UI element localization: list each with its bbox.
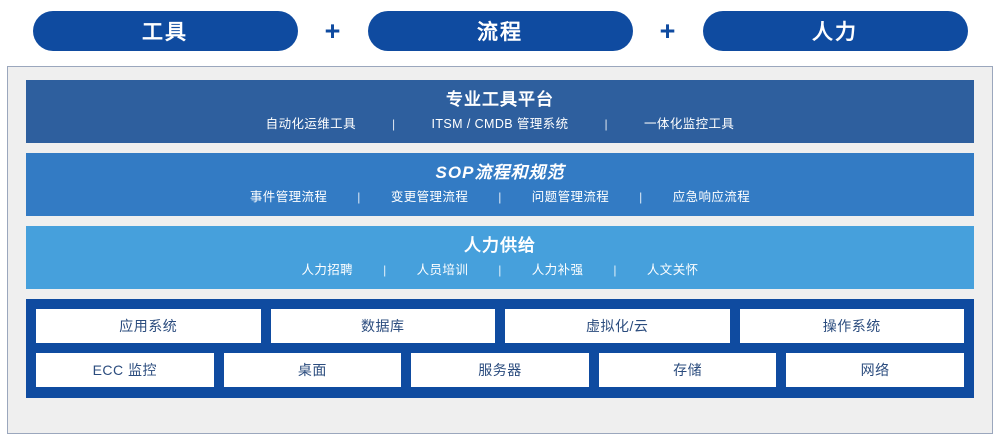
layer-band-people-items: 人力招聘 | 人员培训 | 人力补强 | 人文关怀 <box>26 259 974 281</box>
infra-box-server[interactable]: 服务器 <box>411 353 589 387</box>
capability-pill-tools-label: 工具 <box>142 16 188 46</box>
layer-item-people-1[interactable]: 人员培训 <box>417 259 469 281</box>
layer-item-process-2[interactable]: 问题管理流程 <box>532 186 609 208</box>
infrastructure-row-1: 应用系统 数据库 虚拟化/云 操作系统 <box>36 309 964 343</box>
capability-pill-process-label: 流程 <box>477 16 523 46</box>
layer-band-process-items: 事件管理流程 | 变更管理流程 | 问题管理流程 | 应急响应流程 <box>26 186 974 208</box>
infra-box-storage[interactable]: 存储 <box>599 353 777 387</box>
layer-band-people-title: 人力供给 <box>26 233 974 259</box>
capability-stack-frame: 专业工具平台 自动化运维工具 | ITSM / CMDB 管理系统 | 一体化监… <box>7 66 993 434</box>
layer-band-process-title: SOP流程和规范 <box>26 160 974 186</box>
capability-pill-tools[interactable]: 工具 <box>33 11 298 51</box>
capability-pill-people-label: 人力 <box>812 16 858 46</box>
infra-box-desktop[interactable]: 桌面 <box>224 353 402 387</box>
layer-band-process[interactable]: SOP流程和规范 事件管理流程 | 变更管理流程 | 问题管理流程 | 应急响应… <box>26 153 974 216</box>
item-separator: | <box>613 259 617 281</box>
layer-item-tools-0[interactable]: 自动化运维工具 <box>266 113 356 135</box>
layer-item-people-0[interactable]: 人力招聘 <box>301 259 353 281</box>
layer-item-process-3[interactable]: 应急响应流程 <box>673 186 750 208</box>
capability-pill-people[interactable]: 人力 <box>703 11 968 51</box>
layer-band-people[interactable]: 人力供给 人力招聘 | 人员培训 | 人力补强 | 人文关怀 <box>26 226 974 289</box>
layer-band-tools-items: 自动化运维工具 | ITSM / CMDB 管理系统 | 一体化监控工具 <box>26 113 974 135</box>
plus-icon-2: + <box>633 18 703 45</box>
item-separator: | <box>392 113 396 135</box>
infra-box-network[interactable]: 网络 <box>786 353 964 387</box>
layer-item-people-2[interactable]: 人力补强 <box>532 259 584 281</box>
infra-box-virtualization-cloud[interactable]: 虚拟化/云 <box>505 309 730 343</box>
layer-item-tools-2[interactable]: 一体化监控工具 <box>644 113 734 135</box>
capability-formula-row: 工具 + 流程 + 人力 <box>0 0 1000 62</box>
layer-item-process-1[interactable]: 变更管理流程 <box>391 186 468 208</box>
capability-pill-process[interactable]: 流程 <box>368 11 633 51</box>
infra-box-application-system[interactable]: 应用系统 <box>36 309 261 343</box>
infrastructure-panel: 应用系统 数据库 虚拟化/云 操作系统 ECC 监控 桌面 服务器 存储 网络 <box>26 299 974 398</box>
item-separator: | <box>639 186 643 208</box>
item-separator: | <box>604 113 608 135</box>
layer-item-process-0[interactable]: 事件管理流程 <box>250 186 327 208</box>
layer-item-tools-1[interactable]: ITSM / CMDB 管理系统 <box>432 113 569 135</box>
layer-band-tools-title: 专业工具平台 <box>26 87 974 113</box>
infrastructure-row-2: ECC 监控 桌面 服务器 存储 网络 <box>36 353 964 387</box>
infra-box-ecc-monitoring[interactable]: ECC 监控 <box>36 353 214 387</box>
layer-band-tools[interactable]: 专业工具平台 自动化运维工具 | ITSM / CMDB 管理系统 | 一体化监… <box>26 80 974 143</box>
item-separator: | <box>383 259 387 281</box>
infra-box-operating-system[interactable]: 操作系统 <box>740 309 965 343</box>
infra-box-database[interactable]: 数据库 <box>271 309 496 343</box>
plus-icon-1: + <box>298 18 368 45</box>
item-separator: | <box>498 259 502 281</box>
item-separator: | <box>357 186 361 208</box>
layer-item-people-3[interactable]: 人文关怀 <box>647 259 699 281</box>
item-separator: | <box>498 186 502 208</box>
